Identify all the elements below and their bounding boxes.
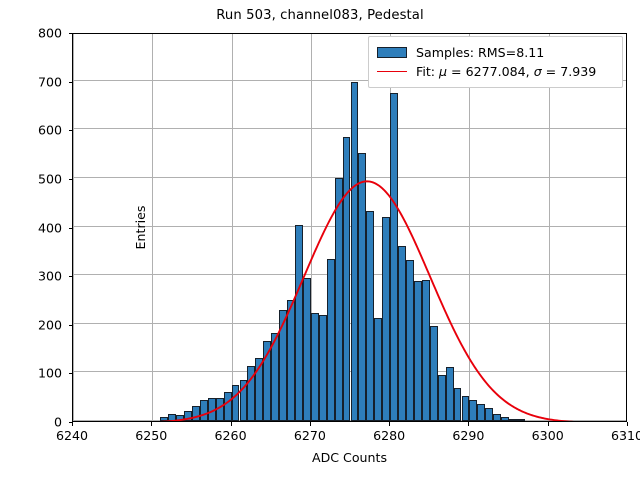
legend-item-fit[interactable]: Fit: μ = 6277.084, σ = 7.939 (377, 62, 614, 81)
legend-patch-icon (377, 47, 407, 58)
x-tick-label: 6250 (135, 428, 167, 443)
x-tick-mark (231, 422, 232, 426)
x-tick-mark (468, 422, 469, 426)
legend[interactable]: Samples: RMS=8.11 Fit: μ = 6277.084, σ =… (368, 36, 623, 88)
y-tick-mark (69, 422, 73, 423)
y-axis-label: Entries (0, 33, 335, 422)
legend-fit-sigma-value: = 7.939 (542, 64, 597, 79)
x-tick-mark (151, 422, 152, 426)
legend-fit-sigma-symbol: σ (534, 64, 542, 79)
x-tick-label: 6300 (532, 428, 564, 443)
x-axis-label: ADC Counts (72, 450, 627, 465)
x-tick-mark (72, 422, 73, 426)
legend-label-samples: Samples: RMS=8.11 (416, 45, 544, 60)
legend-fit-prefix: Fit: (416, 64, 439, 79)
x-tick-label: 6260 (215, 428, 247, 443)
x-tick-label: 6240 (56, 428, 88, 443)
x-tick-label: 6270 (294, 428, 326, 443)
legend-label-fit: Fit: μ = 6277.084, σ = 7.939 (416, 64, 596, 79)
x-tick-label: 6290 (452, 428, 484, 443)
chart-title: Run 503, channel083, Pedestal (0, 8, 640, 23)
legend-fit-mu-value: = 6277.084, (447, 64, 534, 79)
x-tick-mark (310, 422, 311, 426)
y-axis-label-wrap: Entries (18, 33, 32, 422)
x-tick-mark (627, 422, 628, 426)
x-tick-label: 6280 (373, 428, 405, 443)
figure-canvas: Run 503, channel083, Pedestal 6240625062… (0, 0, 640, 480)
x-tick-mark (389, 422, 390, 426)
legend-item-samples[interactable]: Samples: RMS=8.11 (377, 43, 614, 62)
legend-fit-mu-symbol: μ (439, 64, 447, 79)
x-tick-mark (548, 422, 549, 426)
legend-line-icon (377, 71, 407, 72)
x-tick-label: 6310 (611, 428, 640, 443)
